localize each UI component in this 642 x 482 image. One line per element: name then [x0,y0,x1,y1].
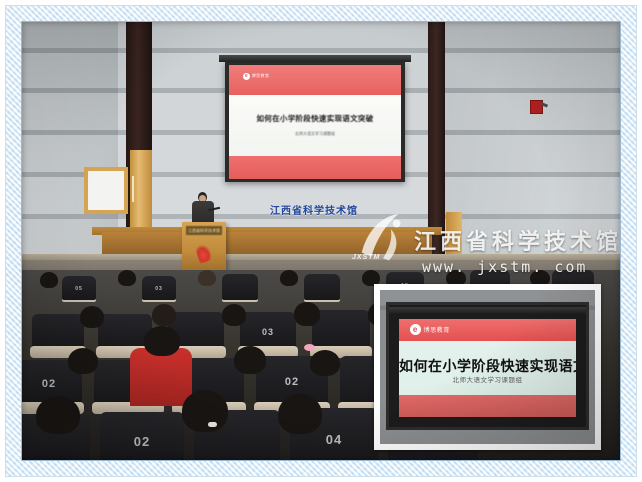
brand-logo-mark-icon: e [410,324,421,335]
audience-head [222,304,246,326]
seat-number: 03 [142,286,176,292]
slide-middle-band [229,95,401,157]
inset-screen-housing [389,307,586,315]
hair-tie-icon [208,422,217,427]
projection-screen-housing [219,55,411,62]
table-row: 03 [142,276,176,302]
wall-white-panel [84,167,128,214]
hair-bow-icon [304,344,315,351]
main-slide-title: 如何在小学阶段快速实现语文突破 [229,113,401,124]
lecture-podium: 江西省科学技术馆 [182,222,226,272]
audience-red-coat [130,348,192,406]
door-handle-icon [132,176,134,202]
seat-number: 02 [100,434,184,449]
stage-wooden-apron [102,232,432,256]
audience-head [234,346,266,374]
inset-closeup-panel: e 博思教育 如何在小学阶段快速实现语文突破 北师大语文学习课题组 [374,284,601,450]
seat-number: 03 [240,327,296,337]
seat-number: 05 [62,286,96,292]
audience-head [182,390,228,432]
audience-head [68,348,98,374]
brand-logo-text: 博思教育 [252,73,270,79]
table-row [222,274,258,302]
podium-nameplate: 江西省科学技术馆 [186,226,222,235]
main-projection-screen: e 博思教育 如何在小学阶段快速实现语文突破 北师大语文学习课题组 [225,62,405,182]
inset-slide-subtitle: 北师大语文学习课题组 [399,374,576,384]
audience-head [144,326,180,356]
audience-head [294,302,320,326]
table-row: 05 [62,276,96,302]
audience-head [80,306,104,328]
audience-head [310,350,340,376]
podium-flame-logo-icon [195,242,214,263]
audience-head [118,270,136,286]
main-slide: e 博思教育 如何在小学阶段快速实现语文突破 北师大语文学习课题组 [229,65,401,179]
audience-head [280,270,298,286]
venue-wall-sign: 江西省科学技术馆 [234,202,394,217]
seat-number: 02 [256,376,328,388]
inset-slide-bottom-band [399,395,576,417]
main-slide-subtitle: 北师大语文学习课题组 [229,131,401,137]
inset-brand-logo: e 博思教育 [410,324,450,335]
inset-projection-screen: e 博思教育 如何在小学阶段快速实现语文突破 北师大语文学习课题组 [386,302,589,430]
audience-head [198,270,216,286]
table-row [312,310,370,352]
slide-bottom-band [229,156,401,179]
brand-logo-text: 博思教育 [424,325,450,334]
table-row [32,314,84,352]
audience-head [40,272,58,288]
framed-photo: e 博思教育 如何在小学阶段快速实现语文突破 北师大语文学习课题组 江西省科学技… [0,0,642,482]
seat-number: 02 [22,378,82,390]
table-row [304,274,340,302]
slide-brand-logo: e 博思教育 [243,73,270,80]
brand-logo-mark-icon: e [243,73,250,80]
audience-head [36,396,80,434]
auditorium-photograph: e 博思教育 如何在小学阶段快速实现语文突破 北师大语文学习课题组 江西省科学技… [22,22,620,460]
audience-head [278,394,322,434]
wall-right-shading [442,22,620,290]
audience-head [152,304,176,326]
table-row: 02 [100,412,184,460]
inset-slide: e 博思教育 如何在小学阶段快速实现语文突破 北师大语文学习课题组 [399,319,576,417]
